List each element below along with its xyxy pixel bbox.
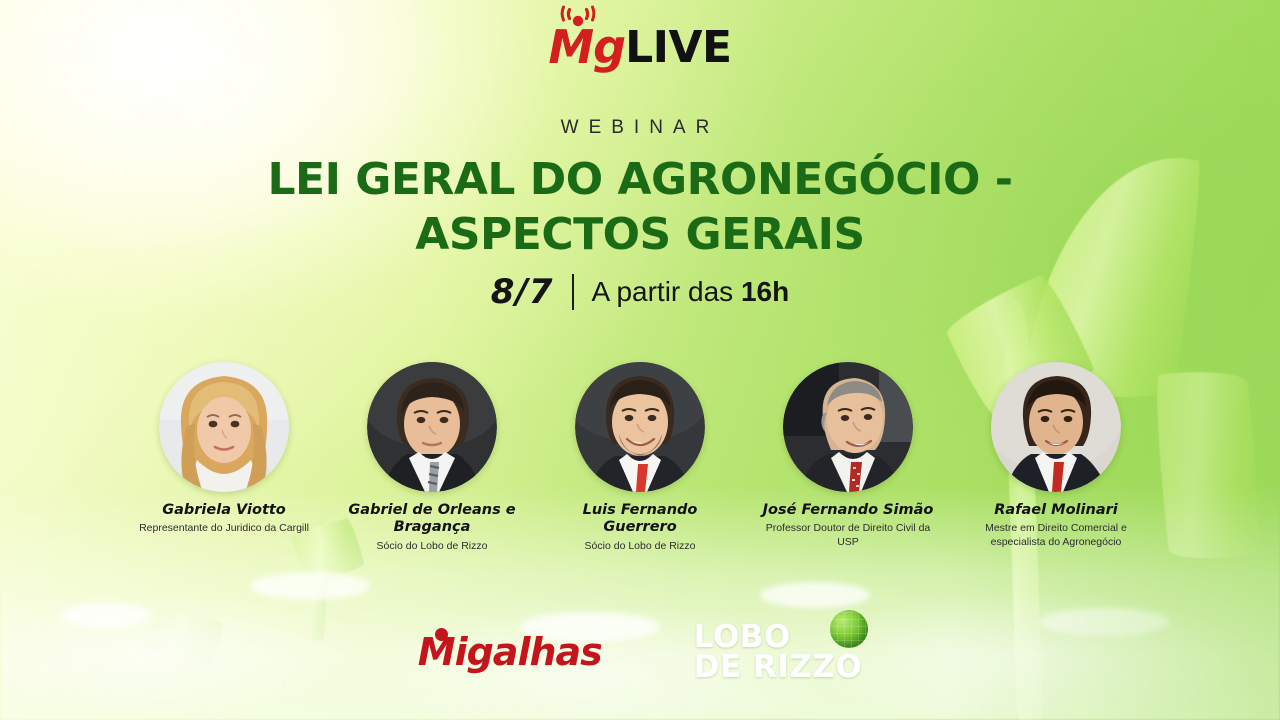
avatar [575, 362, 705, 492]
speaker-card: Luis Fernando Guerrero Sócio do Lobo de … [547, 362, 733, 553]
speaker-name: Gabriela Viotto [131, 502, 317, 519]
portrait-rafael-molinari [991, 362, 1121, 492]
lobo-de-rizzo-logo: LOBO DE RIZZO [694, 622, 862, 682]
page-title-line-2: ASPECTOS GERAIS [0, 207, 1280, 262]
portrait-luis-fernando-guerrero [575, 362, 705, 492]
portrait-jose-fernando-simao [783, 362, 913, 492]
speaker-role: Mestre em Direito Comercial e especialis… [963, 522, 1149, 548]
broadcast-signal-icon [554, 4, 602, 28]
schedule-divider [572, 274, 574, 310]
page-title-line-1: LEI GERAL DO AGRONEGÓCIO - [0, 152, 1280, 207]
green-sphere-icon [830, 610, 868, 648]
migalhas-logo: Migalhas [418, 633, 602, 671]
event-time-value: 16h [741, 276, 789, 307]
logo-mg-label: Mg [548, 20, 625, 74]
speaker-name: Luis Fernando Guerrero [547, 502, 733, 537]
speaker-card: José Fernando Simão Professor Doutor de … [755, 362, 941, 549]
speaker-name: Gabriel de Orleans e Bragança [339, 502, 525, 537]
event-time-prefix: A partir das [592, 276, 734, 307]
speaker-card: Rafael Molinari Mestre em Direito Comerc… [963, 362, 1149, 549]
avatar [159, 362, 289, 492]
mglive-logo: Mg LIVE [0, 14, 1280, 70]
event-date: 8/7 [491, 272, 554, 312]
avatar [367, 362, 497, 492]
speaker-card: Gabriela Viotto Representante do Juridic… [131, 362, 317, 536]
speaker-name: Rafael Molinari [963, 502, 1149, 519]
page-title: LEI GERAL DO AGRONEGÓCIO - ASPECTOS GERA… [0, 152, 1280, 262]
migalhas-dot-icon [435, 628, 448, 641]
portrait-gabriel-de-orleans-e-braganca [367, 362, 497, 492]
speaker-role: Sócio do Lobo de Rizzo [339, 540, 525, 553]
webinar-kicker: WEBINAR [0, 117, 1280, 139]
event-time: A partir das 16h [592, 276, 790, 308]
avatar [991, 362, 1121, 492]
poster-content: Mg LIVE WEBINAR LEI GERAL DO AGRONEGÓCIO… [0, 0, 1280, 720]
avatar [783, 362, 913, 492]
portrait-gabriela-viotto [159, 362, 289, 492]
logo-live-label: LIVE [625, 26, 732, 70]
speaker-name: José Fernando Simão [755, 502, 941, 519]
lobo-line-2: DE RIZZO [694, 652, 862, 682]
sponsor-logos: Migalhas LOBO DE RIZZO [0, 622, 1280, 682]
speaker-role: Sócio do Lobo de Rizzo [547, 540, 733, 553]
speaker-role: Professor Doutor de Direito Civil da USP [755, 522, 941, 548]
logo-mg-text: Mg [548, 24, 625, 70]
speaker-card: Gabriel de Orleans e Bragança Sócio do L… [339, 362, 525, 553]
speaker-role: Representante do Juridico da Cargill [131, 522, 317, 535]
speaker-list: Gabriela Viotto Representante do Juridic… [0, 362, 1280, 553]
schedule-row: 8/7 A partir das 16h [0, 272, 1280, 312]
